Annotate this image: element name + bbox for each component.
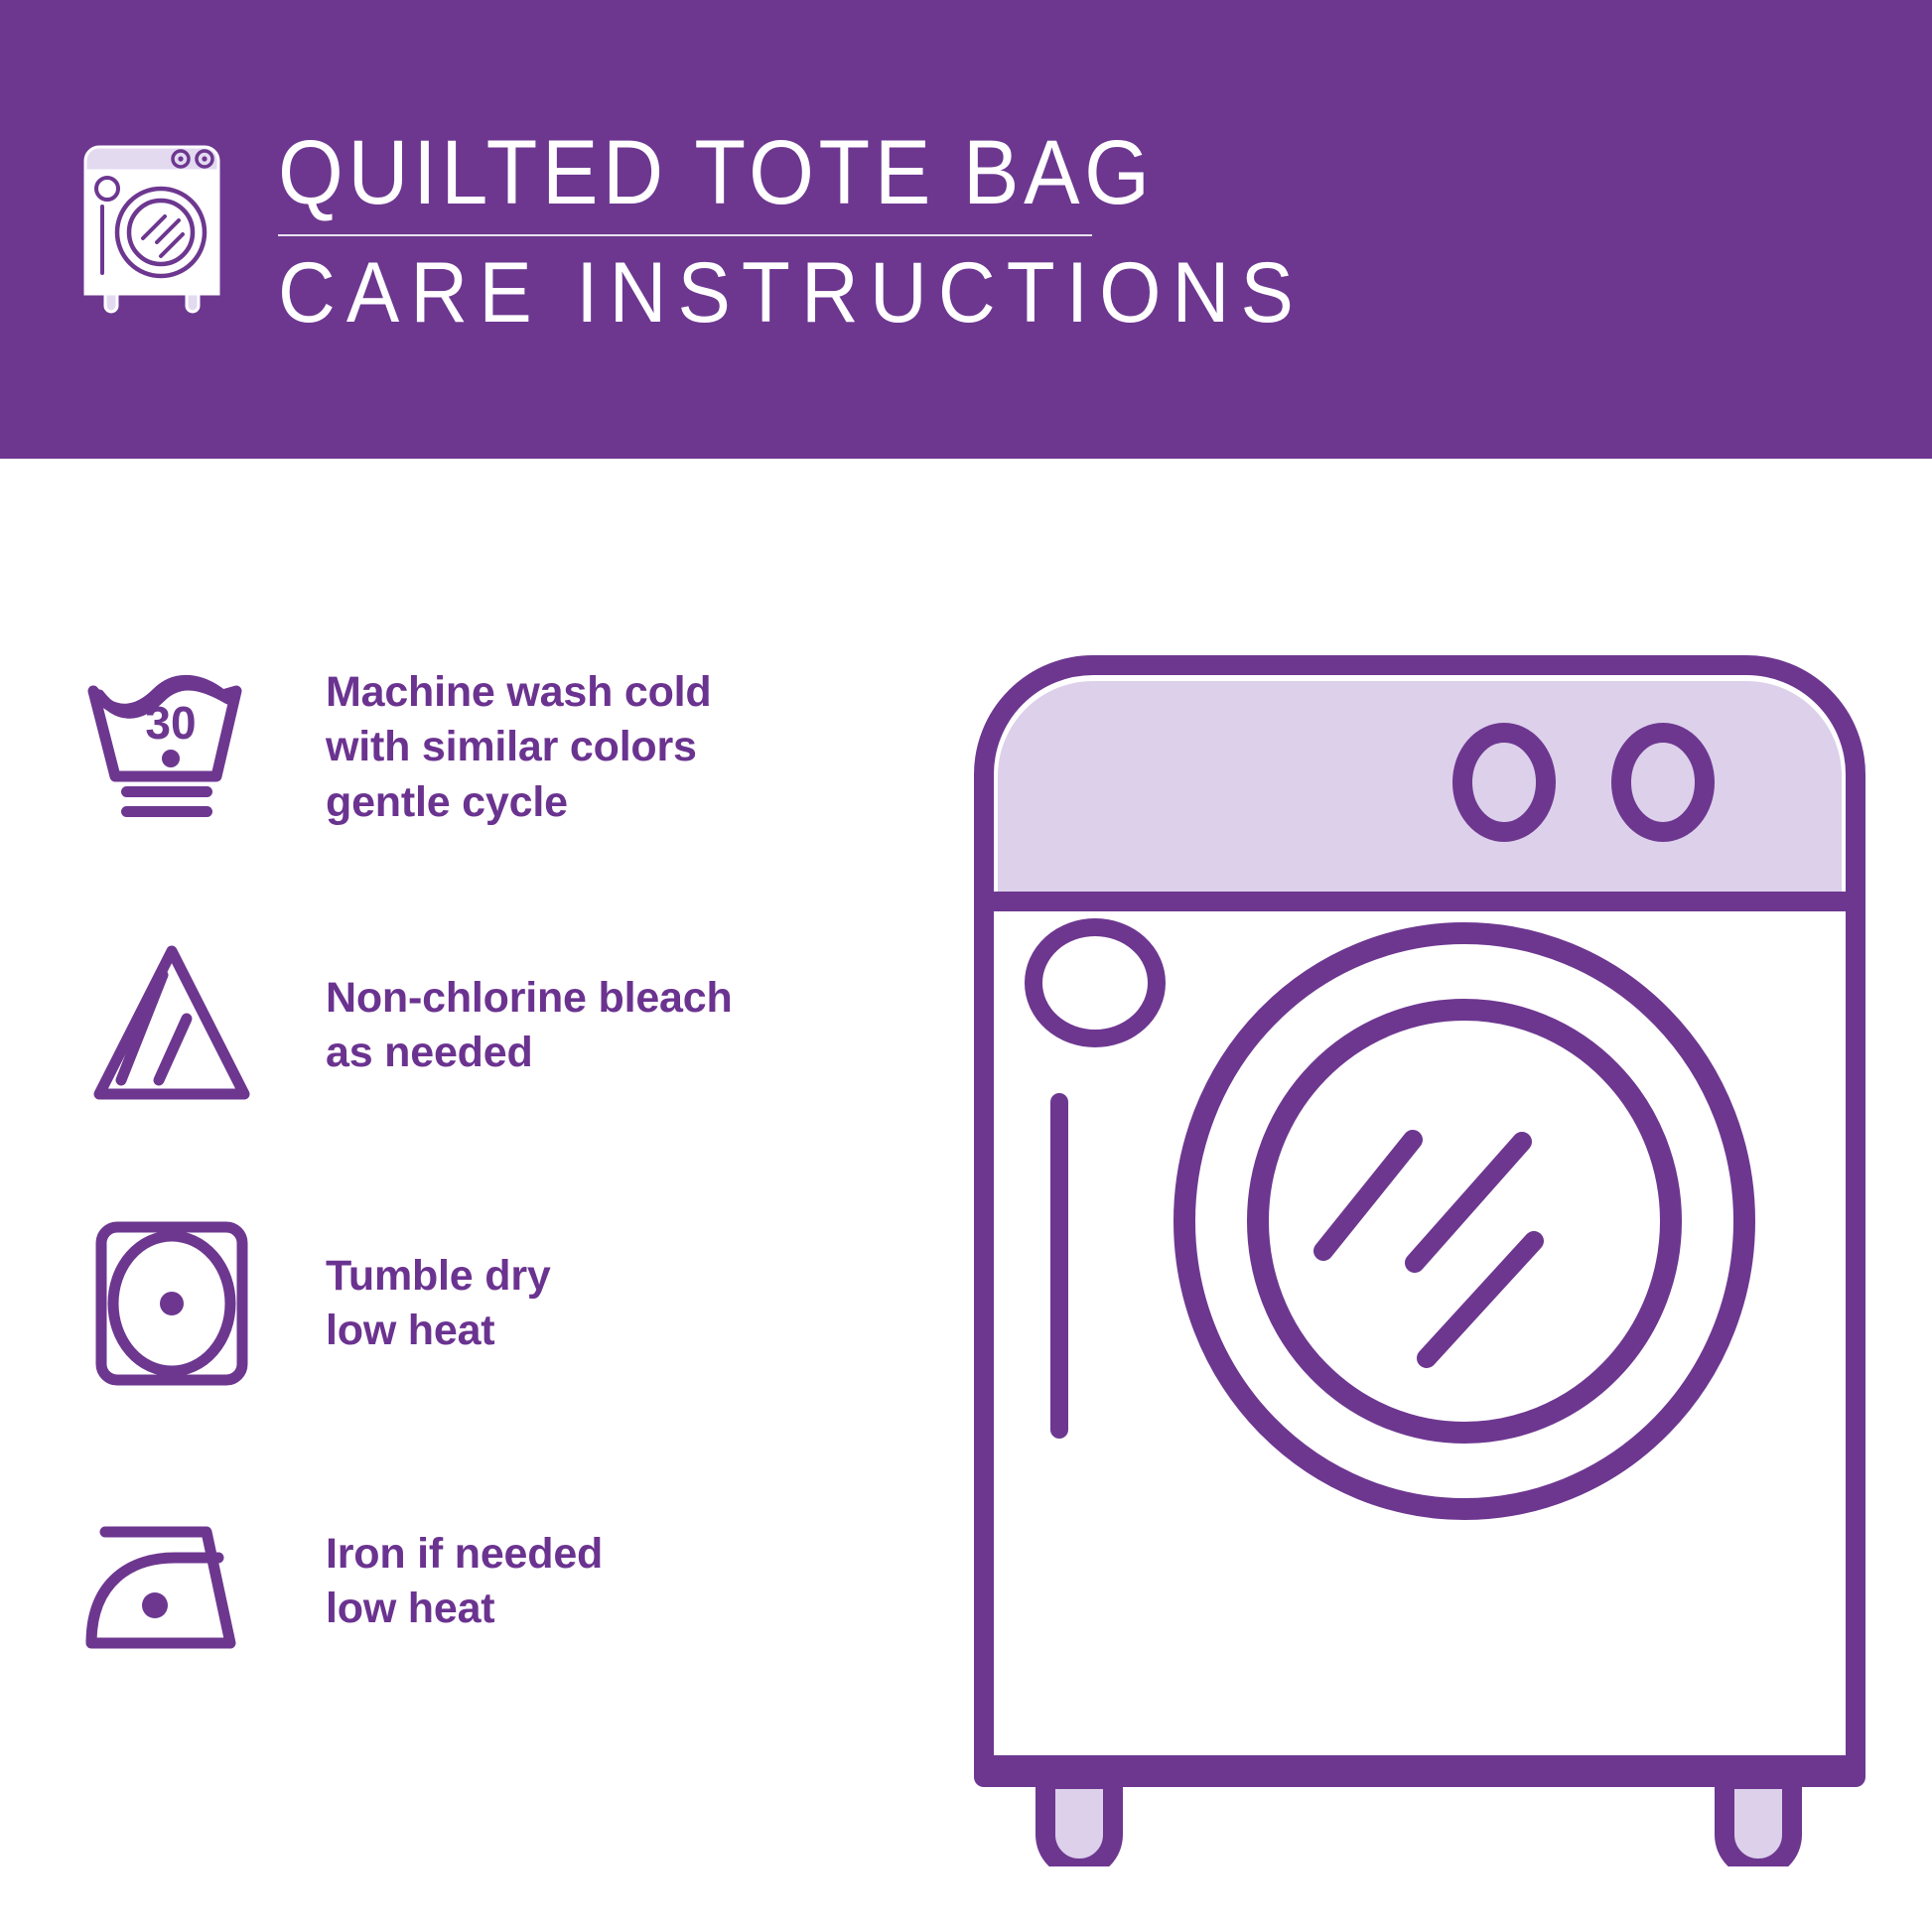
care-label-bleach: Non-chlorine bleach as needed [326,971,733,1080]
care-row-tumble-dry: Tumble dry low heat [79,1211,874,1396]
dial-right[interactable] [1621,733,1705,832]
page-subtitle: CARE INSTRUCTIONS [278,250,1305,336]
gentle-bar-bottom [121,806,212,817]
iron-icon-wrapper [79,1489,264,1674]
tumble-dry-icon-wrapper [79,1211,264,1396]
header-content: QUILTED TOTE BAG CARE INSTRUCTIONS [77,127,1382,336]
control-panel [998,681,1842,901]
leg-right [1725,1779,1792,1866]
care-label-machine-wash: Machine wash cold with similar colors ge… [326,665,711,829]
tumble-dry-icon [79,1211,264,1396]
care-row-iron: Iron if needed low heat [79,1489,874,1674]
care-row-machine-wash: 30 Machine wash cold with similar colors… [79,655,874,840]
page-title: QUILTED TOTE BAG [278,127,1294,218]
leg-left [1045,1779,1113,1866]
iron-icon [79,1502,264,1661]
care-row-bleach: Non-chlorine bleach as needed [79,933,874,1118]
wash-dot [162,750,180,767]
tumble-dry-dot [160,1292,184,1315]
gentle-bar-top [121,786,212,797]
care-label-tumble-dry: Tumble dry low heat [326,1249,551,1358]
wash-tub-icon-wrapper: 30 [79,655,264,840]
large-washing-machine-illustration [968,645,1871,1866]
care-label-iron: Iron if needed low heat [326,1527,603,1636]
washing-machine-icon [77,139,226,314]
dial-left[interactable] [1462,733,1546,832]
care-instruction-list: 30 Machine wash cold with similar colors… [79,655,874,1674]
iron-dot [142,1592,168,1618]
header-titles: QUILTED TOTE BAG CARE INSTRUCTIONS [278,127,1382,336]
wash-temperature-value: 30 [145,697,196,749]
title-divider [278,234,1092,236]
header-band: QUILTED TOTE BAG CARE INSTRUCTIONS [0,0,1932,459]
wash-tub-icon: 30 [79,673,264,822]
bleach-triangle-icon-wrapper [79,933,264,1118]
bleach-triangle-icon [79,933,264,1118]
